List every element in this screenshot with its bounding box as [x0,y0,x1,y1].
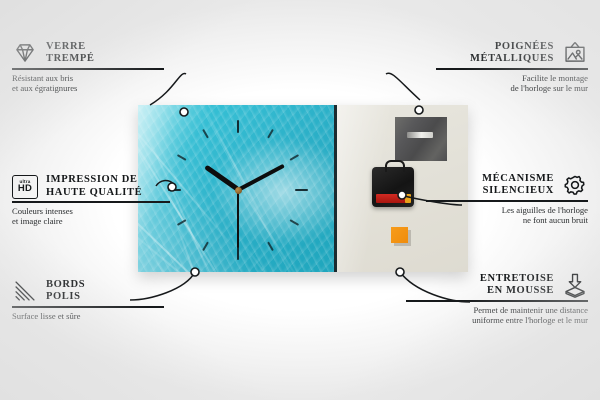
feature-subtitle-line2: et aux égratignures [12,83,182,93]
feature-header: ENTRETOISE EN MOUSSE [388,272,588,298]
feature-title: POIGNÉES MÉTALLIQUES [470,41,554,66]
feature-subtitle-line2: et image claire [12,216,192,226]
ultra-hd-icon: ultra HD [12,175,38,199]
feature-subtitle-line1: Permet de maintenir une distance [388,305,588,315]
feature-mecanisme-silencieux[interactable]: MÉCANISME SILENCIEUX Les aiguilles de l'… [408,172,588,225]
feature-subtitle-line1: Facilite le montage [418,73,588,83]
feature-title: VERRE TREMPÉ [46,41,95,66]
feature-subtitle-line1: Résistant aux bris [12,73,182,83]
feature-entretoise-en-mousse[interactable]: ENTRETOISE EN MOUSSE Permet de maintenir… [388,272,588,325]
feature-poignees-metalliques[interactable]: POIGNÉES MÉTALLIQUES Facilite le montage… [418,40,588,93]
feature-subtitle-line1: Couleurs intenses [12,206,192,216]
clock-tick [295,189,308,191]
feature-title: BORDS POLIS [46,279,85,304]
foam-spacer [391,227,408,243]
feature-subtitle-line2: uniforme entre l'horloge et le mur [388,315,588,325]
gear-icon [562,172,588,198]
title-rule [12,68,164,70]
clock-center-pivot [235,187,242,194]
title-rule [12,306,164,308]
feature-header: MÉCANISME SILENCIEUX [408,172,588,198]
feature-title: MÉCANISME SILENCIEUX [482,173,554,198]
picture-frame-hanging-icon [562,40,588,66]
title-rule [436,68,588,70]
clock-tick [237,120,239,133]
feature-subtitle-line1: Surface lisse et sûre [12,311,182,321]
bracket-slot [407,132,433,138]
clock-tick [237,247,239,260]
title-rule [12,201,170,203]
title-rule [406,300,588,302]
feature-bords-polis[interactable]: BORDS POLIS Surface lisse et sûre [12,278,182,321]
feature-impression-haute-qualite[interactable]: ultra HD IMPRESSION DE HAUTE QUALITÉ Cou… [12,174,192,226]
foam-spacer-icon [562,272,588,298]
feature-title: ENTRETOISE EN MOUSSE [480,273,554,298]
infographic-canvas: VERRE TREMPÉ Résistant aux bris et aux é… [0,0,600,400]
clock-second-hand [237,190,239,248]
battery [376,194,407,203]
feature-header: VERRE TREMPÉ [12,40,182,66]
title-rule [426,200,588,202]
feature-title: IMPRESSION DE HAUTE QUALITÉ [46,174,142,199]
feature-header: POIGNÉES MÉTALLIQUES [418,40,588,66]
feature-subtitle-line2: de l'horloge sur le mur [418,83,588,93]
feature-verre-trempe[interactable]: VERRE TREMPÉ Résistant aux bris et aux é… [12,40,182,93]
feature-subtitle-line1: Les aiguilles de l'horloge [408,205,588,215]
diamond-icon [12,40,38,66]
feature-header: BORDS POLIS [12,278,182,304]
polished-edge-icon [12,278,38,304]
feature-header: ultra HD IMPRESSION DE HAUTE QUALITÉ [12,174,192,199]
feature-subtitle-line2: ne font aucun bruit [408,215,588,225]
metal-bracket-icon [395,117,447,161]
movement-hanging-loop [385,160,405,172]
